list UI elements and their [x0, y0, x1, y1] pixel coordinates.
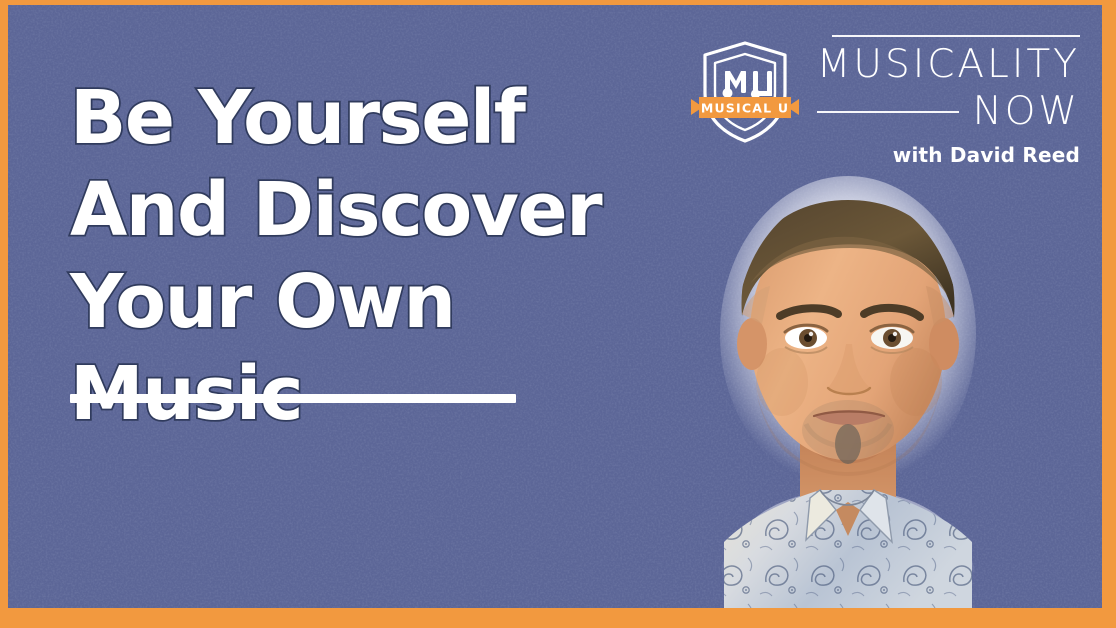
show-title-block: MUSICALITY NOW with David Reed — [817, 33, 1080, 167]
musical-u-logo: MUSICAL U — [689, 37, 801, 147]
host-credit: with David Reed — [893, 143, 1080, 167]
show-title-musicality: MUSICALITY — [817, 46, 1080, 83]
title-rule-top — [832, 35, 1080, 37]
show-title-now-row: NOW — [817, 93, 1080, 130]
headline-underline — [70, 394, 516, 403]
show-title-now: NOW — [973, 93, 1080, 130]
headline-line-2: And Discover — [70, 171, 690, 251]
headline: Be Yourself And Discover Your Own Music — [70, 79, 690, 447]
thumbnail-inner-panel: Be Yourself And Discover Your Own Music — [8, 5, 1102, 608]
headline-line-1: Be Yourself — [70, 79, 690, 159]
headline-line-3: Your Own — [70, 263, 690, 343]
logo-banner-text: MUSICAL U — [701, 101, 789, 116]
branding-block: MUSICAL U MUSICALITY NOW with David Reed — [689, 33, 1080, 167]
title-rule-now — [817, 111, 959, 113]
video-thumbnail: Be Yourself And Discover Your Own Music — [0, 0, 1116, 628]
